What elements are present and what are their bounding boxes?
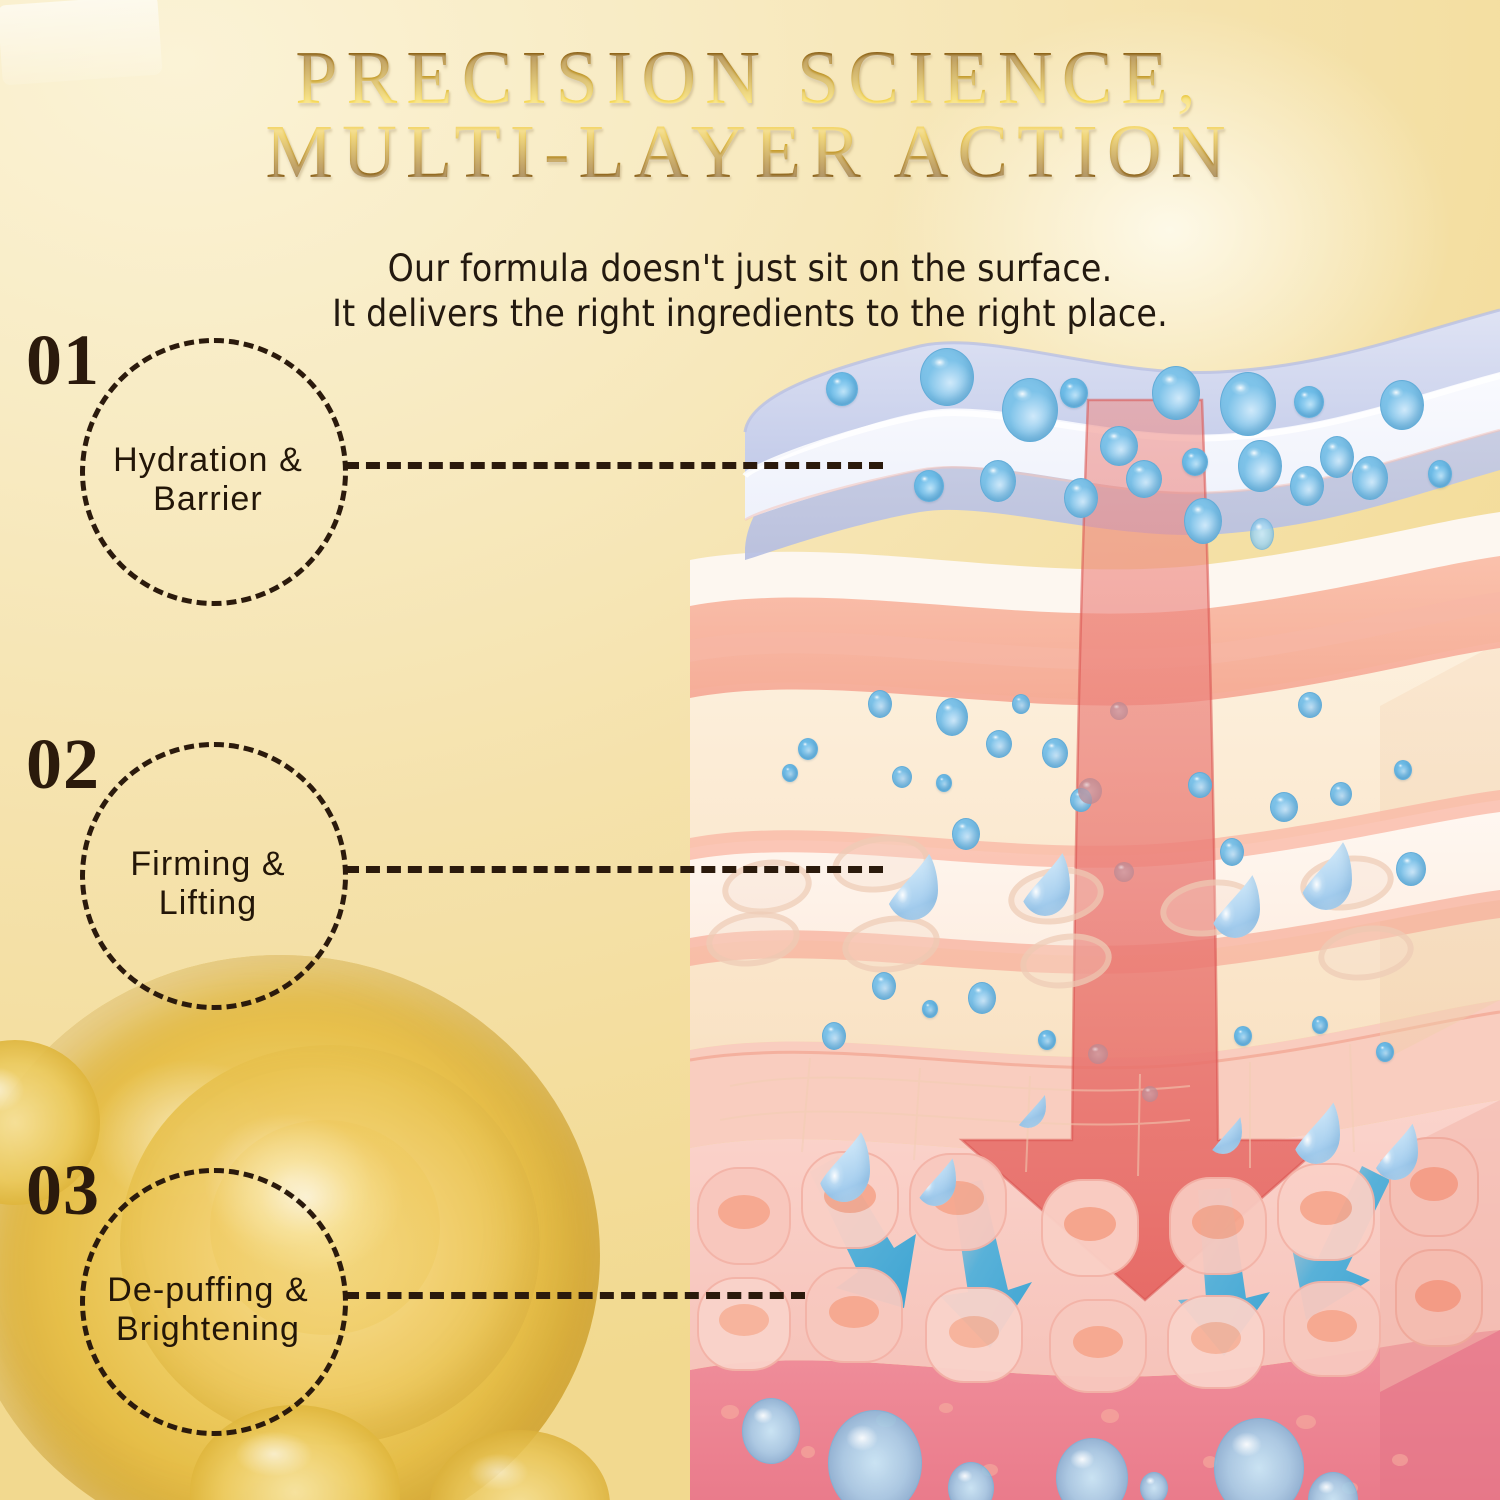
water-droplet [1292,1088,1340,1164]
water-droplet [1010,1072,1046,1128]
page-title: PRECISION SCIENCE, MULTI-LAYER ACTION [0,42,1500,189]
skin-cross-section-diagram [690,0,1500,1500]
callout-01[interactable]: 01 Hydration & Barrier [80,338,348,606]
callout-number: 02 [26,728,100,800]
callout-02[interactable]: 02 Firming & Lifting [80,742,348,1010]
water-droplet [1210,862,1260,938]
water-droplet [818,1120,870,1202]
water-droplet [1204,1096,1242,1154]
callout-number: 01 [26,324,100,396]
water-droplet [886,842,938,920]
water-droplet [914,1140,956,1206]
infographic-canvas: PRECISION SCIENCE, MULTI-LAYER ACTION Ou… [0,0,1500,1500]
water-droplet [1020,840,1070,916]
callout-label: Firming & Lifting [40,845,376,924]
leader-line-03 [345,1292,805,1299]
callout-label: De-puffing & Brightening [40,1271,376,1350]
water-droplet [1300,830,1352,910]
water-droplet [1372,1108,1418,1180]
callout-label: Hydration & Barrier [40,441,376,520]
skin-layers-svg [690,0,1500,1500]
leader-line-02 [345,866,883,873]
callout-number: 03 [26,1154,100,1226]
leader-line-01 [345,462,883,469]
page-subtitle: Our formula doesn't just sit on the surf… [0,246,1500,336]
callout-03[interactable]: 03 De-puffing & Brightening [80,1168,348,1436]
